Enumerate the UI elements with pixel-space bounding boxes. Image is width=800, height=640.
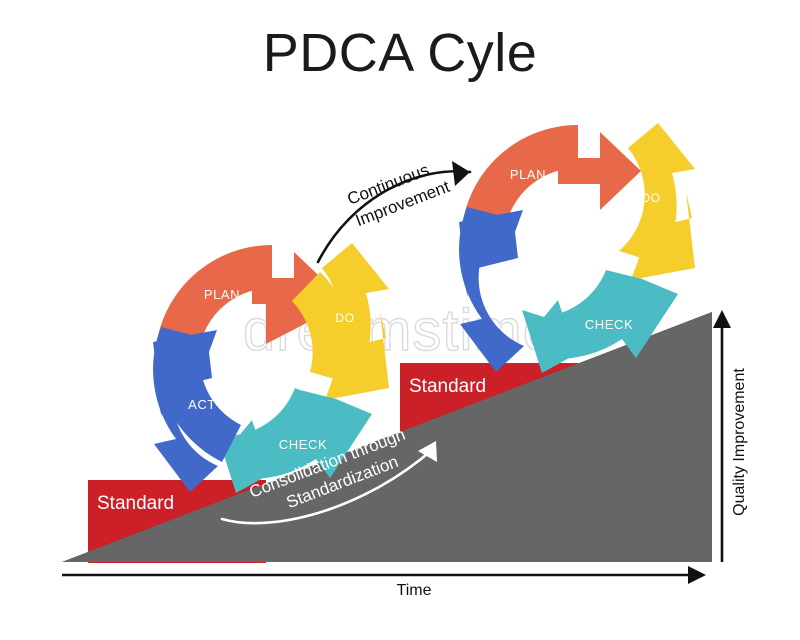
- cycle-lower-label-do: DO: [335, 311, 354, 325]
- cycle-upper-label-act: ACT: [494, 277, 522, 292]
- cycle-upper-label-check: CHECK: [585, 317, 634, 332]
- y-axis-label: Quality Improvement: [731, 368, 748, 516]
- x-axis-label: Time: [397, 582, 432, 599]
- cycle-lower-label-act: ACT: [188, 397, 216, 412]
- cycle-lower-label-plan: PLAN: [204, 287, 240, 302]
- y-axis: Quality Improvement: [713, 310, 748, 562]
- cycle-upper-label-plan: PLAN: [510, 167, 546, 182]
- pdca-svg: Standard Standard dreamstime PLAN: [0, 0, 800, 640]
- x-axis: Time: [62, 566, 706, 599]
- standard-lower-label: Standard: [97, 493, 174, 514]
- cycle-upper-label-do: DO: [641, 191, 660, 205]
- diagram-canvas: PDCA Cyle Standard Standard dreamsti: [0, 0, 800, 640]
- cycle-lower-label-check: CHECK: [279, 437, 328, 452]
- standard-upper-label: Standard: [409, 376, 486, 397]
- cycle-lower-segment-act[interactable]: ACT: [153, 327, 241, 492]
- continuous-improvement-annotation: Continuous Improvement: [318, 155, 470, 262]
